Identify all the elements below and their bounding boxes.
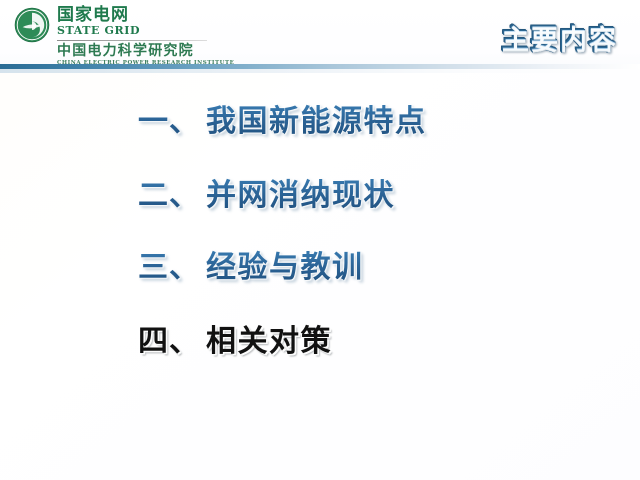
list-item[interactable]: 四、 相关对策: [0, 316, 640, 360]
toc-item-number: 三、: [138, 242, 200, 286]
header-divider-glow: [0, 69, 640, 73]
toc-item-label: 并网消纳现状: [206, 170, 395, 214]
toc-item-label: 我国新能源特点: [206, 96, 427, 140]
page-title: 主要内容: [502, 18, 618, 57]
state-grid-emblem-icon: [14, 7, 50, 43]
list-item[interactable]: 二、 并网消纳现状: [0, 170, 640, 214]
toc-item-label: 相关对策: [206, 316, 332, 360]
company-name-en: STATE GRID: [57, 24, 234, 37]
list-item[interactable]: 三、 经验与教训: [0, 242, 640, 286]
brand-block: 国家电网 STATE GRID 中国电力科学研究院 CHINA ELECTRIC…: [14, 5, 234, 67]
brand-divider-rule: [57, 40, 207, 41]
slide-canvas: 国家电网 STATE GRID 中国电力科学研究院 CHINA ELECTRIC…: [0, 0, 640, 480]
toc-item-label: 经验与教训: [206, 242, 364, 286]
toc-item-number: 二、: [138, 170, 200, 214]
toc-item-number: 四、: [138, 316, 200, 360]
institute-name-cn: 中国电力科学研究院: [57, 43, 234, 59]
list-item[interactable]: 一、 我国新能源特点: [0, 96, 640, 140]
toc-item-number: 一、: [138, 96, 200, 140]
company-name-cn: 国家电网: [57, 6, 234, 24]
brand-text-block: 国家电网 STATE GRID 中国电力科学研究院 CHINA ELECTRIC…: [57, 5, 234, 67]
table-of-contents: 一、 我国新能源特点 二、 并网消纳现状 三、 经验与教训 四、 相关对策: [0, 96, 640, 360]
slide-header: 国家电网 STATE GRID 中国电力科学研究院 CHINA ELECTRIC…: [0, 0, 640, 64]
